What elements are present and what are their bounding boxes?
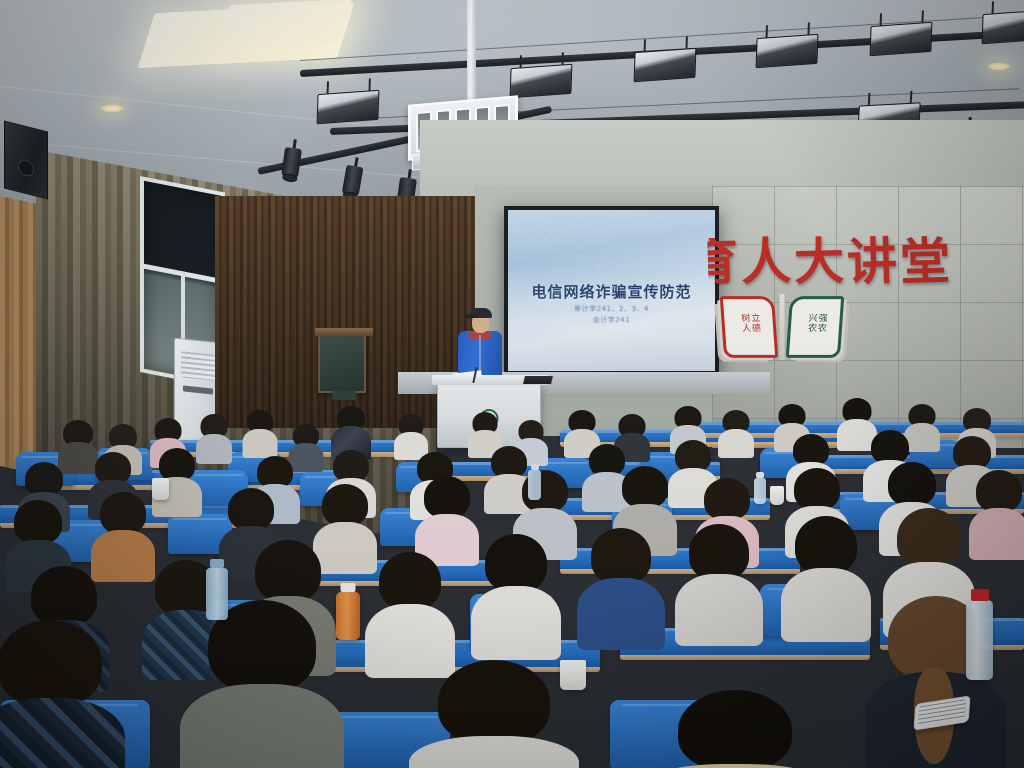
audience-member [0,620,110,768]
downlight-icon [99,104,125,113]
audience-member [198,414,230,462]
audience-member [334,406,368,456]
paper-cup [770,486,784,505]
water-bottle [754,478,766,504]
projection-screen: 电信网络诈骗宣传防范 审计学241、2、3、4 会计学241 [504,206,719,375]
book-right-text: 强农兴农 [804,313,826,341]
book-left-text: 立德树人 [738,313,760,341]
stage-floodlight [870,22,933,56]
downlight-icon [986,62,1012,71]
audience-member [96,492,150,572]
stage-floodlight [317,90,380,124]
stage-floodlight [756,34,819,68]
stage-floodlight [982,10,1024,44]
book-left-page: 立德树人 [720,296,778,358]
loudspeaker [4,121,48,200]
banner-char-5: 堂 [899,237,950,286]
audience-member [684,524,754,628]
audience-member [200,600,324,768]
audience-member [720,410,752,456]
audience-member [374,552,446,660]
banner-char-2: 人 [740,237,791,286]
paper-cup [560,660,586,690]
banner-char-4: 讲 [846,237,897,286]
projector-mount-pole [467,0,476,104]
audience-member [244,410,276,456]
lecture-hall-photo: 电信网络诈骗宣传防范 审计学241、2、3、4 会计学241 育 人 大 讲 堂… [0,0,1024,768]
book-right-page: 强农兴农 [786,296,844,358]
audience-member [670,690,800,768]
speaker-cap [469,308,492,318]
water-bottle [966,600,993,680]
ceiling-panel-light-second [216,0,352,50]
audience-member [430,660,558,768]
audience-member [480,534,552,642]
stage-floodlight [510,64,573,98]
water-bottle [206,568,228,620]
water-bottle [336,592,360,640]
audience-member [790,516,862,622]
audience-member [318,484,372,564]
audience-member [586,528,656,632]
audience-member [972,470,1024,550]
laptop [523,376,553,384]
water-bottle [528,470,541,500]
open-book-graphic: 立德树人 强农兴农 [718,290,846,368]
banner-char-3: 大 [793,237,844,286]
stage-floodlight [634,48,697,82]
phone-screen [918,699,967,727]
paper-cup [152,478,169,500]
wall-plaque [318,333,366,393]
audience-member [420,476,474,556]
